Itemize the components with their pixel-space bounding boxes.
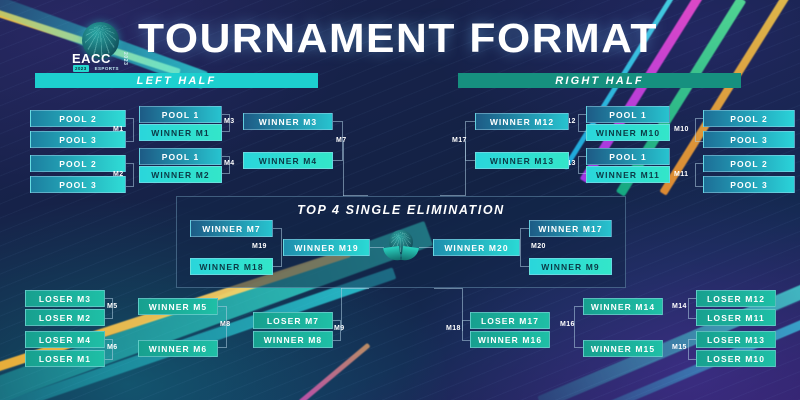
match-m12-team-2[interactable]: WINNER M10: [586, 124, 670, 141]
match-label-m14: M14: [672, 303, 687, 310]
match-m3-team-2[interactable]: WINNER M1: [139, 124, 222, 141]
banner-right-half: RIGHT HALF: [458, 73, 741, 88]
page-header: EACC 2023 ESPORTS 2023 TOURNAMENT FORMAT: [0, 0, 800, 70]
match-label-m4: M4: [224, 160, 235, 167]
match-m12-team-1[interactable]: POOL 1: [586, 106, 670, 123]
match-m17-team-2[interactable]: WINNER M13: [475, 152, 569, 169]
eacc-logo-year: 2023: [122, 52, 128, 66]
match-m18-team-2[interactable]: WINNER M16: [470, 331, 550, 348]
connector-m15: [688, 339, 696, 360]
match-label-m3: M3: [224, 118, 235, 125]
semi-left-result[interactable]: WINNER M19: [283, 239, 370, 256]
match-label-m20: M20: [531, 243, 546, 250]
connector-m9-to-center: [341, 288, 369, 289]
match-m3-team-1[interactable]: POOL 1: [139, 106, 222, 123]
semi-right-result[interactable]: WINNER M20: [433, 239, 520, 256]
connector-m19: [273, 228, 282, 267]
match-m13-team-1[interactable]: POOL 1: [586, 148, 670, 165]
emblem-leaf-right: [401, 246, 419, 262]
eacc-logo-sub: ESPORTS: [93, 65, 121, 72]
semi-right-team-2[interactable]: WINNER M9: [529, 258, 612, 275]
match-m16-team-2[interactable]: WINNER M15: [583, 340, 663, 357]
connector-m14: [688, 298, 696, 319]
match-label-m19: M19: [252, 243, 267, 250]
semi-left-team-2[interactable]: WINNER M18: [190, 258, 273, 275]
connector-final-to-m20: [419, 247, 433, 248]
match-label-m16: M16: [560, 321, 575, 328]
match-m4-team-1[interactable]: POOL 1: [139, 148, 222, 165]
match-m11-team-2[interactable]: POOL 3: [703, 176, 795, 193]
match-label-m9: M9: [334, 325, 345, 332]
match-m7-team-2[interactable]: WINNER M4: [243, 152, 333, 169]
match-m1-team-1[interactable]: POOL 2: [30, 110, 126, 127]
match-label-m7: M7: [336, 137, 347, 144]
connector-m13: [578, 156, 586, 174]
top4-title: TOP 4 SINGLE ELIMINATION: [177, 203, 625, 217]
emblem-leaf-left: [383, 246, 401, 262]
eacc-logo-badge: 2023: [73, 65, 89, 72]
match-m5-team-1[interactable]: LOSER M3: [25, 290, 105, 307]
match-m1-team-2[interactable]: POOL 3: [30, 131, 126, 148]
match-m4-team-2[interactable]: WINNER M2: [139, 166, 222, 183]
connector-m17-down: [465, 141, 466, 196]
semi-right-team-1[interactable]: WINNER M17: [529, 220, 612, 237]
match-label-m8: M8: [220, 321, 231, 328]
connector-m18-up: [462, 288, 463, 331]
match-m8-team-2[interactable]: WINNER M6: [138, 340, 218, 357]
match-m6-team-1[interactable]: LOSER M4: [25, 331, 105, 348]
match-m11-team-1[interactable]: POOL 2: [703, 155, 795, 172]
match-m5-team-2[interactable]: LOSER M2: [25, 309, 105, 326]
match-m6-team-2[interactable]: LOSER M1: [25, 350, 105, 367]
match-m2-team-2[interactable]: POOL 3: [30, 176, 126, 193]
connector-m12: [578, 114, 586, 132]
match-m10-team-2[interactable]: POOL 3: [703, 131, 795, 148]
eacc-logo-text: EACC: [72, 51, 111, 66]
match-m9-team-2[interactable]: WINNER M8: [253, 331, 333, 348]
match-m2-team-1[interactable]: POOL 2: [30, 155, 126, 172]
match-m16-team-1[interactable]: WINNER M14: [583, 298, 663, 315]
match-m15-team-2[interactable]: LOSER M10: [696, 350, 776, 367]
connector-m1: [126, 118, 134, 142]
connector-m11: [695, 163, 703, 187]
page-title: TOURNAMENT FORMAT: [138, 18, 658, 59]
match-m13-team-2[interactable]: WINNER M11: [586, 166, 670, 183]
banner-left-half: LEFT HALF: [35, 73, 318, 88]
match-m14-team-2[interactable]: LOSER M11: [696, 309, 776, 326]
match-label-m18: M18: [446, 325, 461, 332]
connector-m16: [574, 306, 583, 348]
poster-canvas: EACC 2023 ESPORTS 2023 TOURNAMENT FORMAT…: [0, 0, 800, 400]
match-label-m2: M2: [113, 171, 124, 178]
match-m15-team-1[interactable]: LOSER M13: [696, 331, 776, 348]
tournament-emblem-icon: [382, 230, 420, 270]
match-m9-team-1[interactable]: LOSER M7: [253, 312, 333, 329]
connector-m10: [695, 118, 703, 142]
connector-m20: [520, 228, 529, 267]
match-label-m1: M1: [113, 126, 124, 133]
match-m10-team-1[interactable]: POOL 2: [703, 110, 795, 127]
match-m17-team-1[interactable]: WINNER M12: [475, 113, 569, 130]
connector-m2: [126, 163, 134, 187]
match-m7-team-1[interactable]: WINNER M3: [243, 113, 333, 130]
connector-m18: [462, 320, 470, 341]
match-label-m15: M15: [672, 344, 687, 351]
connector-m9-up: [341, 288, 342, 331]
match-m18-team-1[interactable]: LOSER M17: [470, 312, 550, 329]
match-label-m11: M11: [674, 171, 688, 178]
match-label-m5: M5: [107, 303, 118, 310]
semi-left-team-1[interactable]: WINNER M7: [190, 220, 273, 237]
match-label-m6: M6: [107, 344, 118, 351]
match-label-m10: M10: [674, 126, 689, 133]
eacc-logo-subtext: 2023 ESPORTS: [73, 65, 121, 72]
match-m8-team-1[interactable]: WINNER M5: [138, 298, 218, 315]
connector-m7-down: [343, 141, 344, 196]
eacc-logo: EACC 2023 ESPORTS 2023: [64, 22, 138, 74]
match-m14-team-1[interactable]: LOSER M12: [696, 290, 776, 307]
connector-m18-to-center: [434, 288, 462, 289]
